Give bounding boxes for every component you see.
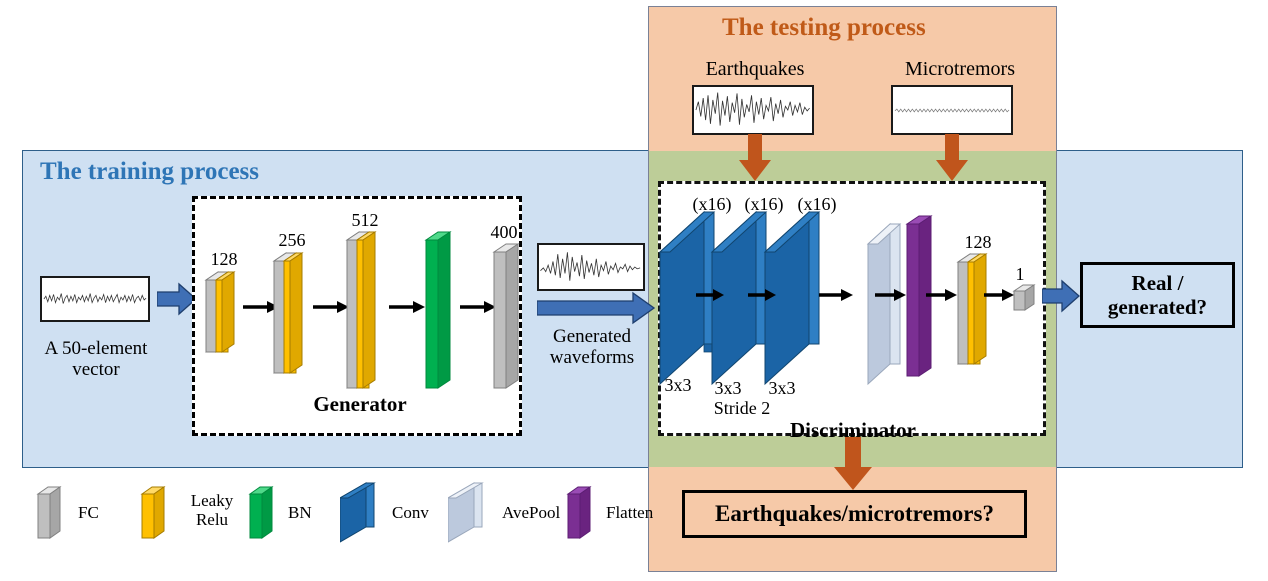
input-caption-line2: vector [22,359,170,380]
generator-layer-5-fc [492,240,526,392]
legend-item-avepool [448,482,496,549]
generator-layer-bn [424,228,458,392]
legend-label-flatten: Flatten [606,504,653,523]
input-caption-line1: A 50-element [22,338,170,359]
arrow-disc-avepool-to-flatten [875,288,906,302]
legend-item-conv [340,482,388,549]
generator-label: Generator [300,392,420,417]
legend-label-bn: BN [288,504,312,523]
legend-label-fc: FC [78,504,99,523]
arrow-earthquakes-to-discriminator [738,134,772,182]
legend: FC Leaky Relu BN Conv [0,472,660,562]
real-generated-output-box: Real / generated? [1080,262,1235,328]
arrow-disc-flatten-to-fc [926,288,957,302]
microtremors-input-label: Microtremors [886,58,1034,80]
arrow-disc-conv1-to-conv2 [696,288,724,302]
input-vector-caption: A 50-element vector [22,338,170,381]
earthquake-waveform-icon [692,85,814,135]
arrow-discriminator-to-classification [833,437,873,491]
generator-layer-2-size: 256 [272,230,312,251]
generated-caption-line1: Generated [533,326,651,347]
legend-item-fc [36,484,70,547]
discriminator-output-size: 1 [1008,264,1032,285]
arrow-gen-3-to-bn [389,300,425,314]
generated-waveforms-caption: Generated waveforms [533,326,651,369]
earthquakes-input-label: Earthquakes [680,58,830,80]
generator-layer-2-fc-leakyrelu [272,249,316,377]
discriminator-kernel-1-label: 3x3 [658,375,698,396]
arrow-microtremors-to-discriminator [935,134,969,182]
legend-label-avepool: AvePool [502,504,560,523]
legend-item-leaky-relu [140,484,174,547]
generator-layer-1-fc-leakyrelu [204,268,248,356]
legend-label-leaky-relu-line1: Leaky [180,492,244,511]
legend-item-bn [248,484,282,547]
discriminator-fc-leakyrelu-layer [956,250,1000,368]
legend-label-leaky-relu: Leaky Relu [180,492,244,529]
arrow-generated-to-discriminator [537,291,655,325]
arrow-disc-fc-to-output [984,288,1014,302]
testing-process-title: The testing process [722,14,926,42]
input-noise-waveform-icon [40,276,150,322]
generated-waveform-icon [537,243,645,291]
arrow-input-to-generator [157,282,197,316]
discriminator-output-unit [1012,283,1038,313]
earthquakes-microtremors-label: Earthquakes/microtremors? [715,501,994,527]
arrow-bn-to-out [460,300,496,314]
arrow-discriminator-to-real-generated [1042,279,1080,313]
real-generated-line1: Real / [1108,271,1207,295]
generator-layer-1-size: 128 [204,249,244,270]
legend-label-leaky-relu-line2: Relu [180,511,244,530]
generator-layer-3-fc-leakyrelu [345,228,389,392]
arrow-gen-2-to-3 [313,300,349,314]
earthquakes-microtremors-output-box: Earthquakes/microtremors? [682,490,1027,538]
arrow-disc-conv2-to-conv3 [748,288,776,302]
legend-item-flatten [566,484,600,547]
microtremor-waveform-icon [891,85,1013,135]
discriminator-stride-label: Stride 2 [703,398,781,419]
discriminator-kernel-3-label: 3x3 [762,378,802,399]
generated-caption-line2: waveforms [533,347,651,368]
training-process-title: The training process [40,158,259,186]
real-generated-line2: generated? [1108,295,1207,319]
arrow-disc-conv3-to-avepool [819,288,853,302]
discriminator-kernel-2-label: 3x3 [708,378,748,399]
legend-label-conv: Conv [392,504,429,523]
